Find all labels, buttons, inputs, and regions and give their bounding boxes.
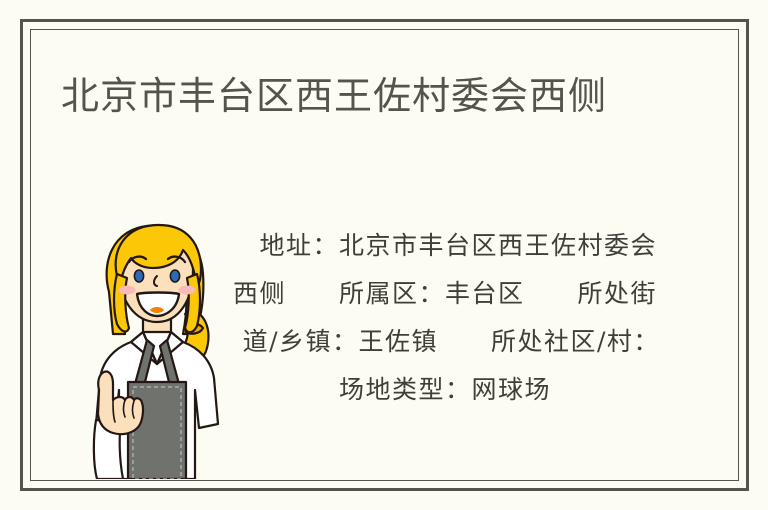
outer-border-frame: 北京市丰台区西王佐村委会西侧 (20, 19, 749, 491)
venue-details-text: 地址：北京市丰台区西王佐村委会西侧 所属区：丰台区 所处街道/乡镇：王佐镇 所处… (225, 222, 665, 414)
page-title: 北京市丰台区西王佐村委会西侧 (61, 73, 607, 119)
pointing-woman-illustration (87, 214, 227, 479)
page-root: 北京市丰台区西王佐村委会西侧 (0, 0, 768, 510)
content-area: 地址：北京市丰台区西王佐村委会西侧 所属区：丰台区 所处街道/乡镇：王佐镇 所处… (30, 192, 739, 481)
